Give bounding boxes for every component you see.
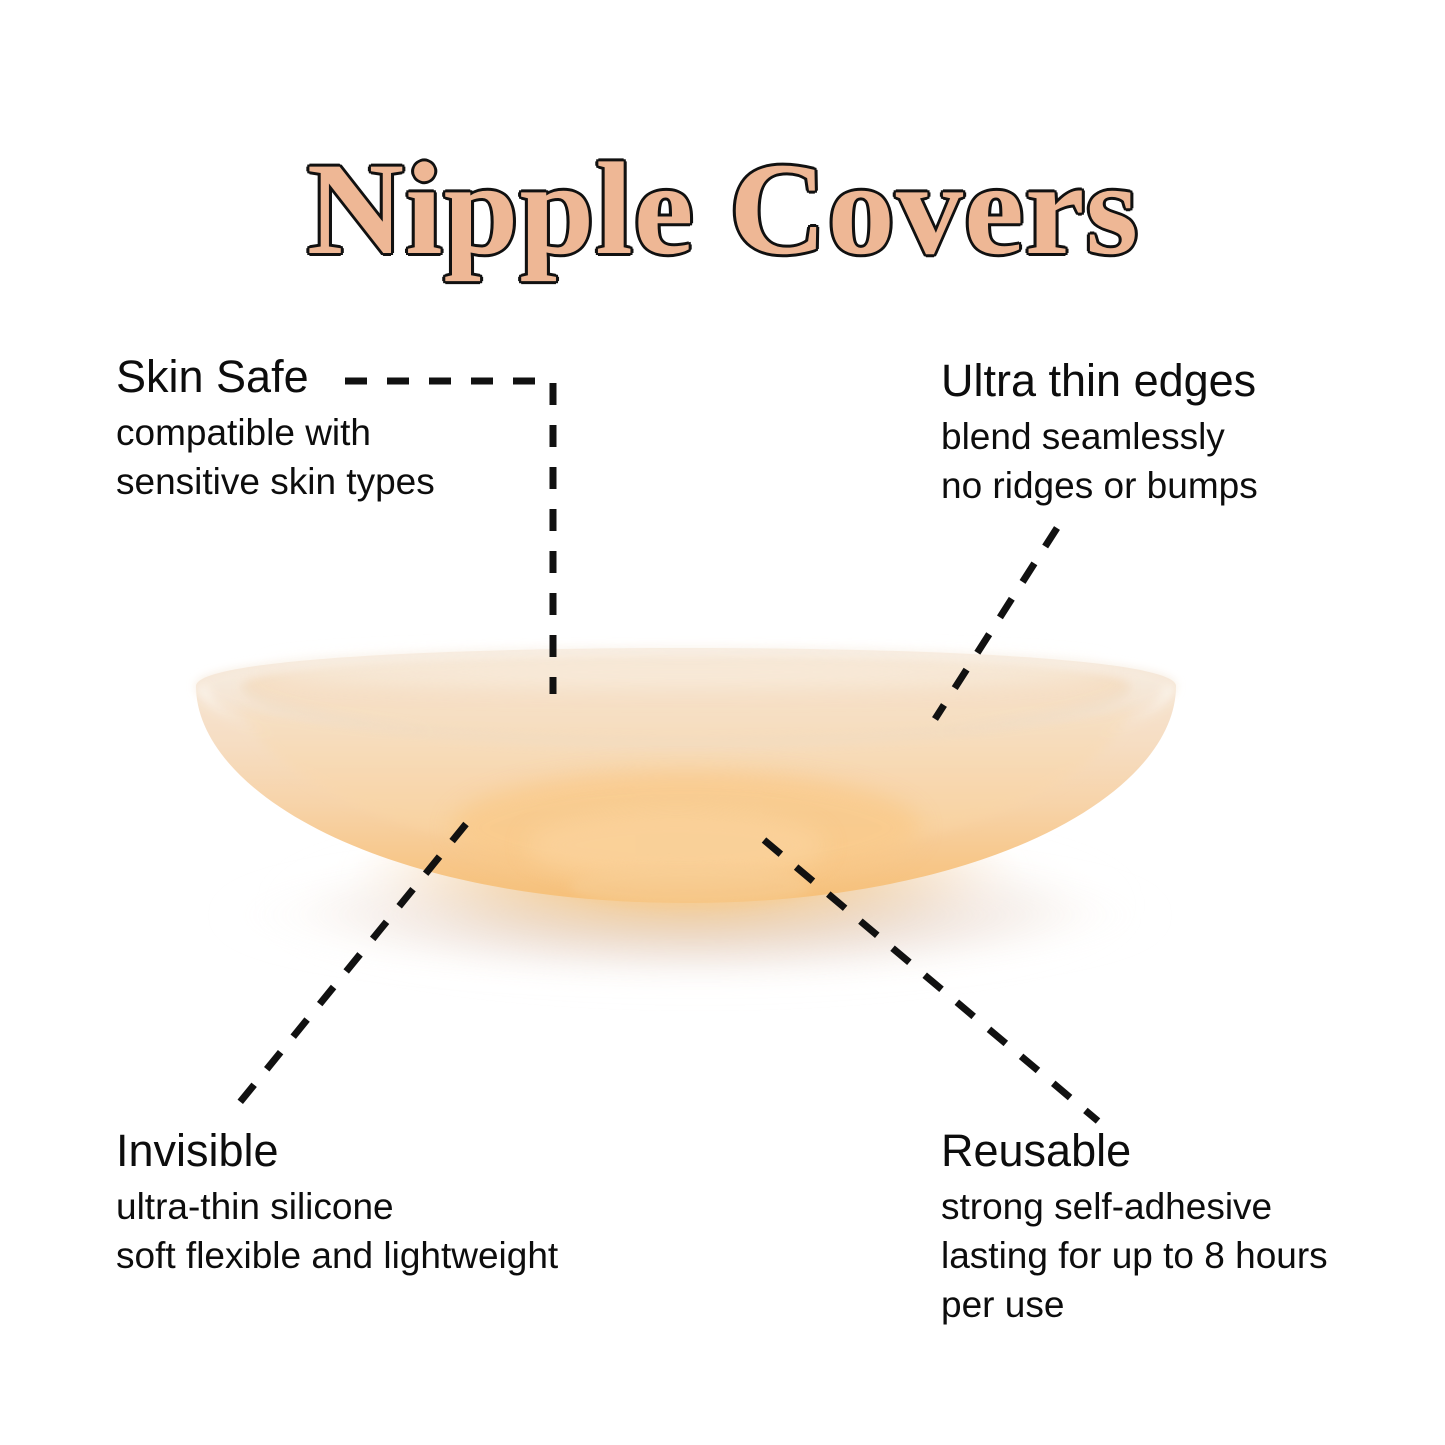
callout-reusable-line-2: lasting for up to 8 hours xyxy=(941,1231,1328,1280)
infographic-canvas: Nipple Covers Skin Safe compatible with … xyxy=(0,0,1445,1445)
callout-skin-safe-heading: Skin Safe xyxy=(116,352,435,402)
bottom-dimple xyxy=(570,864,810,908)
callout-reusable-line-1: strong self-adhesive xyxy=(941,1182,1328,1231)
callout-invisible-heading: Invisible xyxy=(116,1126,558,1176)
callout-reusable: Reusable strong self-adhesive lasting fo… xyxy=(941,1126,1328,1329)
callout-invisible-line-1: ultra-thin silicone xyxy=(116,1182,558,1231)
rim-sheen xyxy=(266,655,1106,689)
callout-ultra-thin-edges-line-2: no ridges or bumps xyxy=(941,461,1258,510)
callout-ultra-thin-edges-heading: Ultra thin edges xyxy=(941,356,1258,406)
callout-skin-safe-line-2: sensitive skin types xyxy=(116,457,435,506)
callout-ultra-thin-edges-line-1: blend seamlessly xyxy=(941,412,1258,461)
callout-skin-safe: Skin Safe compatible with sensitive skin… xyxy=(116,352,435,506)
callout-invisible-line-2: soft flexible and lightweight xyxy=(116,1231,558,1280)
callout-invisible: Invisible ultra-thin silicone soft flexi… xyxy=(116,1126,558,1280)
callout-ultra-thin-edges: Ultra thin edges blend seamlessly no rid… xyxy=(941,356,1258,510)
callout-skin-safe-line-1: compatible with xyxy=(116,408,435,457)
callout-reusable-heading: Reusable xyxy=(941,1126,1328,1176)
callout-reusable-line-3: per use xyxy=(941,1280,1328,1329)
